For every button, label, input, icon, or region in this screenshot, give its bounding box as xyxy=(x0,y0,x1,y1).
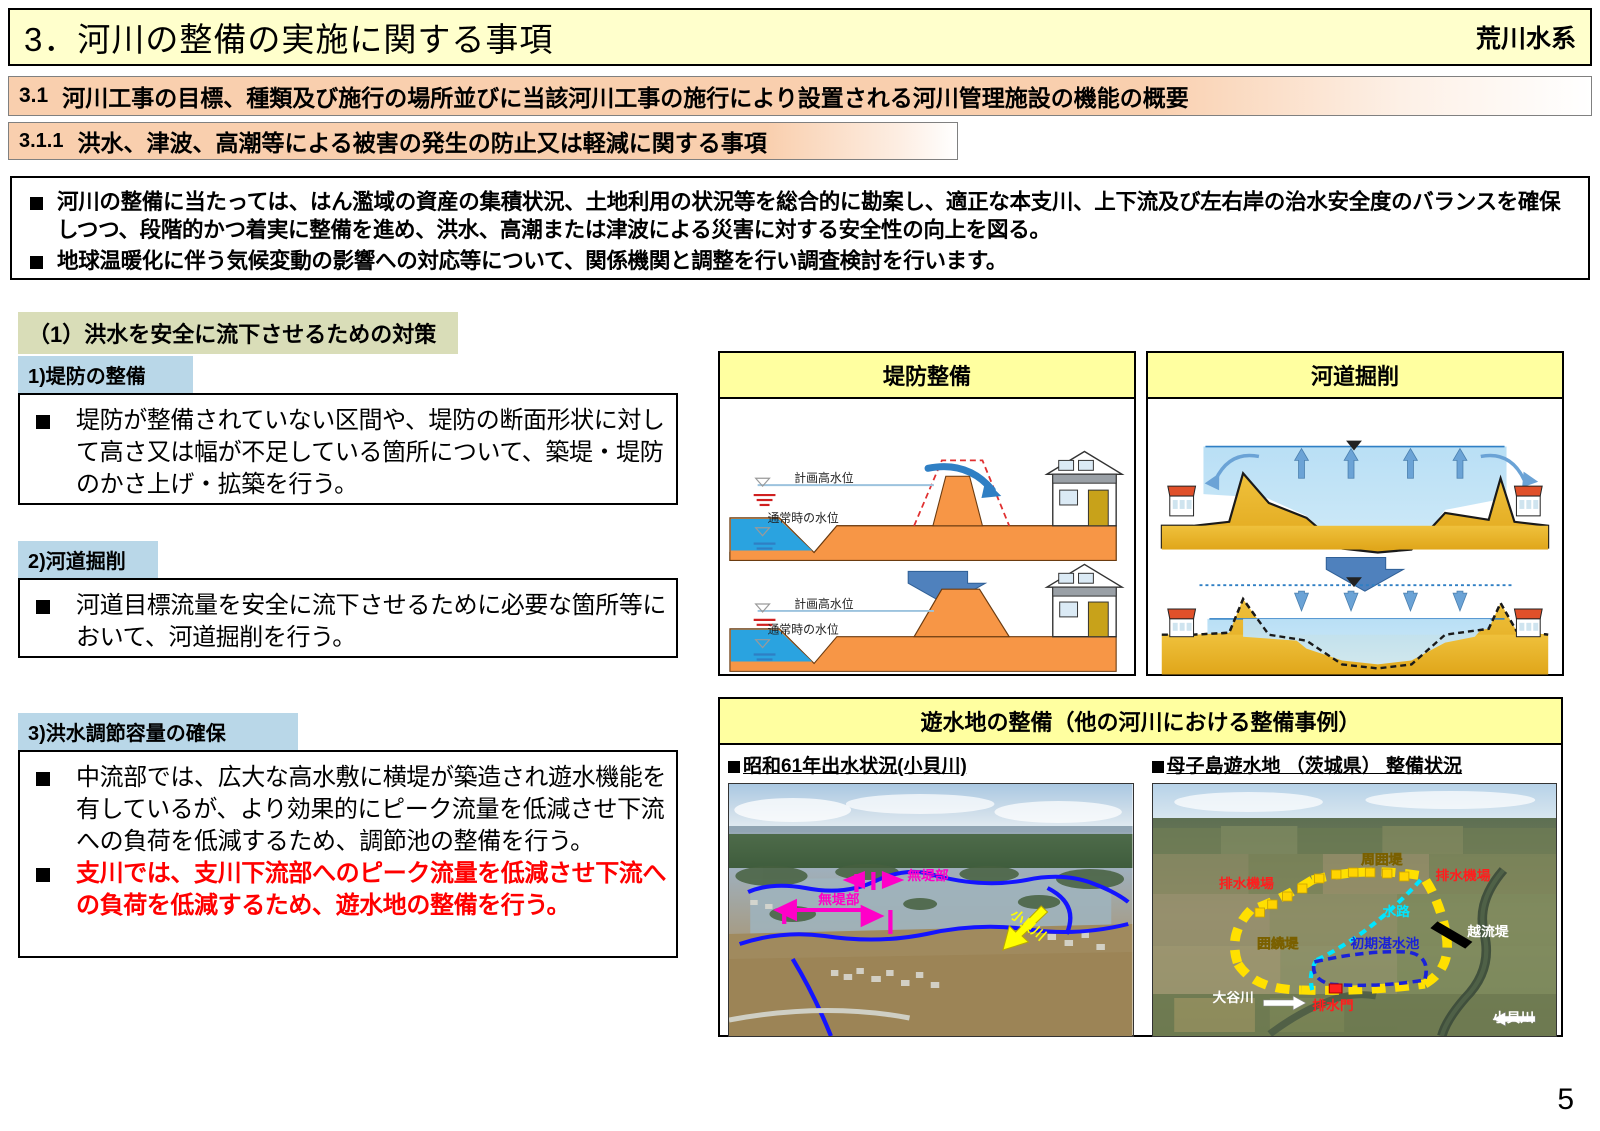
label-haisui-kijou-right: 排水機場 xyxy=(1435,867,1491,883)
square-bullet-icon xyxy=(1152,761,1164,773)
label-plan-high-water-2: 計画高水位 xyxy=(794,597,853,611)
page-title: 3．河川の整備の実施に関する事項 xyxy=(24,13,553,61)
bullet-item: 支川では、支川下流部へのピーク流量を低減させ下流への負荷を低減するため、遊水地の… xyxy=(28,858,668,922)
house-icon-left-bottom xyxy=(1168,609,1196,637)
slide-page: 3．河川の整備の実施に関する事項 荒川水系 3.1 河川工事の目標、種類及び施行… xyxy=(0,0,1600,1131)
label-etsuryu-tei: 越流堤 xyxy=(1466,923,1509,939)
section-title: 河川工事の目標、種類及び施行の場所並びに当該河川工事の施行により設置される河川管… xyxy=(62,79,1189,113)
label-suiro: 水路 xyxy=(1382,903,1410,919)
square-bullet-icon xyxy=(36,772,50,786)
photo-caption-left: 昭和61年出水状況(小貝川) xyxy=(728,751,1132,778)
flood-photo-svg: 無堤部 無堤部 小貝川 xyxy=(729,784,1133,1036)
bullet-text-highlight: 支川では、支川下流部へのピーク流量を低減させ下流への負荷を低減するため、遊水地の… xyxy=(76,858,668,922)
lead-bullet-item: 地球温暖化に伴う気候変動の影響への対応等について、関係機関と調整を行い調査検討を… xyxy=(24,247,1576,275)
aerial-photo-hahakojima-basin: 周囲堤 排水機場 排水機場 水路 越流堤 初期湛水池 囲繞堤 大谷川 排水門 小… xyxy=(1152,783,1558,1037)
house-icon-right-top xyxy=(1514,486,1542,516)
label-shoki-tansuichi: 初期湛水池 xyxy=(1350,935,1420,951)
photo-panel-title: 遊水地の整備（他の河川における整備事例） xyxy=(720,699,1561,745)
square-bullet-icon xyxy=(36,868,50,882)
photo-caption-left-text: 昭和61年出水状況(小貝川) xyxy=(743,756,967,777)
bullet-text: 中流部では、広大な高水敷に横堤が築造され遊水機能を有しているが、より効果的にピー… xyxy=(76,762,668,858)
label-normal-water: 通常時の水位 xyxy=(768,511,839,525)
down-arrow-icon-2 xyxy=(1326,557,1403,591)
diagram-panel-dredging: 河道掘削 xyxy=(1146,351,1564,676)
photo-column-right: 母子島遊水地 （茨城県） 整備状況 xyxy=(1152,751,1556,1037)
square-bullet-icon xyxy=(36,415,50,429)
photo-panel-inner: 昭和61年出水状況(小貝川) xyxy=(720,745,1561,1045)
label-haisui-kijou-left: 排水機場 xyxy=(1218,875,1274,891)
sub-heading-dredging: 2)河道掘削 xyxy=(18,541,158,578)
page-number: 5 xyxy=(1557,1083,1574,1117)
bullet-item: 河道目標流量を安全に流下させるために必要な箇所等において、河道掘削を行う。 xyxy=(28,590,668,654)
levee-cross-section-svg: 計画高水位 通常時の水位 xyxy=(720,399,1134,676)
lead-bullet-text: 河川の整備に当たっては、はん濫域の資産の集積状況、土地利用の状況等を総合的に勘案… xyxy=(57,188,1576,245)
annotation-mutei-bu-2: 無堤部 xyxy=(818,891,860,907)
down-arrow-icons xyxy=(1295,591,1467,611)
subsection-number: 3.1.1 xyxy=(19,130,63,153)
bullet-text: 堤防が整備されていない区間や、堤防の断面形状に対して高さ又は幅が不足している箇所… xyxy=(76,405,668,501)
content-box-flood-control-capacity: 中流部では、広大な高水敷に横堤が築造され遊水機能を有しているが、より効果的にピー… xyxy=(18,750,678,958)
label-haisuimon: 排水門 xyxy=(1312,997,1353,1013)
label-kokaigawa: 小貝川 xyxy=(1492,1010,1533,1025)
section-bar: 3.1 河川工事の目標、種類及び施行の場所並びに当該河川工事の施行により設置され… xyxy=(8,76,1592,116)
square-bullet-icon xyxy=(30,197,43,210)
bullet-text: 河道目標流量を安全に流下させるために必要な箇所等において、河道掘削を行う。 xyxy=(76,590,668,654)
content-box-dredging: 河道目標流量を安全に流下させるために必要な箇所等において、河道掘削を行う。 xyxy=(18,578,678,658)
content-box-levee: 堤防が整備されていない区間や、堤防の断面形状に対して高さ又は幅が不足している箇所… xyxy=(18,393,678,505)
sub-heading-flood-control-capacity: 3)洪水調節容量の確保 xyxy=(18,713,298,750)
house-icon-right-bottom xyxy=(1514,609,1542,637)
label-normal-water-2: 通常時の水位 xyxy=(768,623,839,637)
label-shuui-tei: 周囲堤 xyxy=(1361,852,1403,867)
house-icon-top xyxy=(1047,451,1122,525)
aerial-photo-flood-1986: 無堤部 無堤部 小貝川 xyxy=(728,783,1134,1037)
drainage-gate-mark xyxy=(1329,984,1342,993)
square-bullet-icon xyxy=(36,600,50,614)
section-number: 3.1 xyxy=(19,84,48,108)
title-bar: 3．河川の整備の実施に関する事項 荒川水系 xyxy=(8,8,1592,66)
annotation-mutei-bu-1: 無堤部 xyxy=(907,867,949,883)
label-oyagawa: 大谷川 xyxy=(1212,989,1253,1005)
diagram-title-levee: 堤防整備 xyxy=(720,353,1134,399)
lead-bullet-item: 河川の整備に当たっては、はん濫域の資産の集積状況、土地利用の状況等を総合的に勘案… xyxy=(24,188,1576,245)
square-bullet-icon xyxy=(728,761,740,773)
group-heading-flood-measures: （1）洪水を安全に流下させるための対策 xyxy=(18,312,458,354)
photo-caption-right-text: 母子島遊水地 （茨城県） 整備状況 xyxy=(1167,756,1463,777)
square-bullet-icon xyxy=(30,256,43,269)
river-system-label: 荒川水系 xyxy=(1476,19,1576,55)
photo-caption-right: 母子島遊水地 （茨城県） 整備状況 xyxy=(1152,751,1556,778)
lead-bullet-box: 河川の整備に当たっては、はん濫域の資産の集積状況、土地利用の状況等を総合的に勘案… xyxy=(10,176,1590,280)
dredging-cross-section-svg xyxy=(1148,399,1562,676)
subsection-title: 洪水、津波、高潮等による被害の発生の防止又は軽減に関する事項 xyxy=(77,124,766,158)
basin-photo-svg: 周囲堤 排水機場 排水機場 水路 越流堤 初期湛水池 囲繞堤 大谷川 排水門 小… xyxy=(1153,784,1557,1036)
photo-panel-retarding-basin: 遊水地の整備（他の河川における整備事例） 昭和61年出水状況(小貝川) xyxy=(718,697,1563,1037)
bullet-item: 堤防が整備されていない区間や、堤防の断面形状に対して高さ又は幅が不足している箇所… xyxy=(28,405,668,501)
lead-bullet-text: 地球温暖化に伴う気候変動の影響への対応等について、関係機関と調整を行い調査検討を… xyxy=(57,247,1007,275)
bullet-item: 中流部では、広大な高水敷に横堤が築造され遊水機能を有しているが、より効果的にピー… xyxy=(28,762,668,858)
label-plan-high-water: 計画高水位 xyxy=(794,471,853,485)
diagram-body-levee: 計画高水位 通常時の水位 xyxy=(720,399,1134,681)
house-icon-bottom xyxy=(1047,564,1122,636)
sub-heading-levee: 1)堤防の整備 xyxy=(18,356,193,393)
diagram-title-dredging: 河道掘削 xyxy=(1148,353,1562,399)
house-icon-left-top xyxy=(1168,486,1196,516)
diagram-body-dredging xyxy=(1148,399,1562,681)
label-ijou-tei: 囲繞堤 xyxy=(1257,935,1299,951)
subsection-bar: 3.1.1 洪水、津波、高潮等による被害の発生の防止又は軽減に関する事項 xyxy=(8,122,958,160)
photo-column-left: 昭和61年出水状況(小貝川) xyxy=(728,751,1132,1037)
diagram-panel-levee: 堤防整備 xyxy=(718,351,1136,676)
